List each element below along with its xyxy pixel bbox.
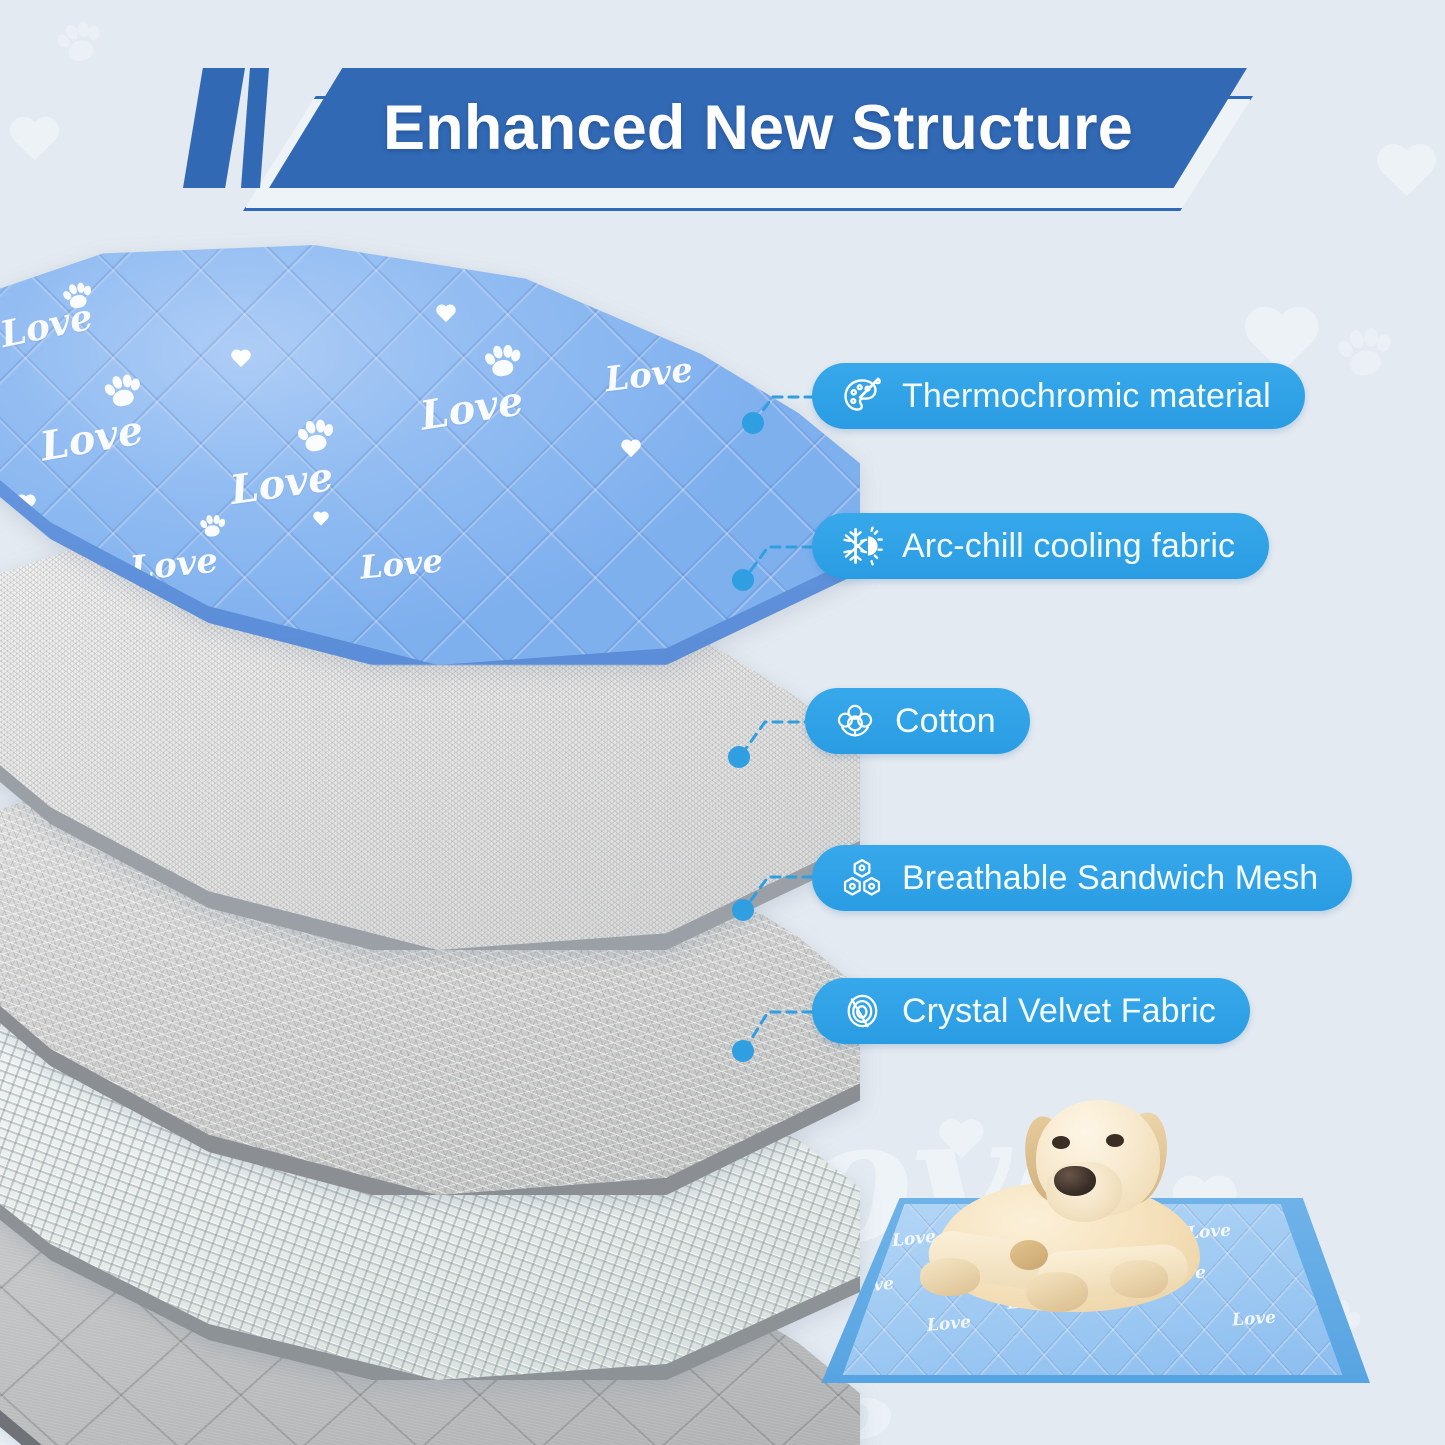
paw-watermark [52, 17, 104, 67]
puppy-paw-far-right [1110, 1260, 1168, 1298]
cotton-boll-icon [833, 699, 877, 743]
banner-accent-slash-2 [241, 68, 269, 188]
love-print: Love [359, 541, 445, 586]
puppy-eye-right [1106, 1134, 1124, 1147]
puppy-elbow [1010, 1240, 1048, 1270]
callout-cotton[interactable]: Cotton [805, 688, 1030, 754]
love-print: Love [37, 406, 147, 470]
mat-love-print: Love [849, 1274, 895, 1298]
paw-print [482, 342, 521, 379]
puppy-paw-left [920, 1258, 980, 1296]
callout-label: Thermochromic material [902, 377, 1271, 416]
product-photo: Love Love Love Love Love Love Love [800, 1090, 1445, 1445]
paw-print [102, 371, 143, 410]
heart-watermark [8, 118, 60, 164]
heart-print [435, 305, 457, 324]
heart-watermark [1375, 145, 1437, 200]
snowflake-sun-icon [840, 524, 884, 568]
puppy-paw-right [1026, 1272, 1088, 1312]
honeycomb-icon [840, 856, 884, 900]
paw-watermark [1333, 323, 1393, 381]
callout-label: Crystal Velvet Fabric [902, 992, 1216, 1031]
page-title: Enhanced New Structure [383, 92, 1133, 164]
layer-surface: Love Love Love Love Love Love Love [0, 245, 860, 665]
callout-sandwich-mesh[interactable]: Breathable Sandwich Mesh [812, 845, 1352, 911]
paw-print [60, 280, 93, 312]
heart-print [620, 440, 642, 459]
quilt-print-pattern: Love Love Love Love Love Love Love [0, 245, 860, 665]
callout-thermochromic[interactable]: Thermochromic material [812, 363, 1305, 429]
title-banner: Enhanced New Structure [183, 58, 1263, 223]
infographic-canvas: Love Love Love Enhanced New Structure [0, 0, 1445, 1445]
heart-print [230, 350, 252, 369]
callout-crystal-velvet[interactable]: Crystal Velvet Fabric [812, 978, 1250, 1044]
velvet-swirl-icon [840, 989, 884, 1033]
love-print: Love [603, 350, 695, 400]
callout-label: Cotton [895, 702, 996, 741]
love-print: Love [227, 453, 336, 514]
paw-print [668, 313, 706, 349]
palette-icon [840, 374, 884, 418]
puppy-nose [1054, 1166, 1096, 1196]
heart-print [312, 512, 330, 527]
layer-thermochromic: Love Love Love Love Love Love Love [0, 245, 860, 665]
banner-accent-slash-1 [183, 68, 245, 188]
paw-print [295, 417, 335, 455]
puppy-illustration [918, 1090, 1248, 1360]
love-print: Love [0, 296, 97, 356]
banner-body: Enhanced New Structure [269, 68, 1247, 188]
love-print: Love [417, 377, 527, 440]
callout-label: Arc-chill cooling fabric [902, 527, 1235, 566]
puppy-eye-left [1052, 1136, 1070, 1149]
callout-arc-chill[interactable]: Arc-chill cooling fabric [812, 513, 1269, 579]
material-layer-stack: Love Love Love Love Love Love Love [0, 245, 880, 1375]
paw-print [199, 514, 225, 539]
callout-label: Breathable Sandwich Mesh [902, 859, 1318, 898]
